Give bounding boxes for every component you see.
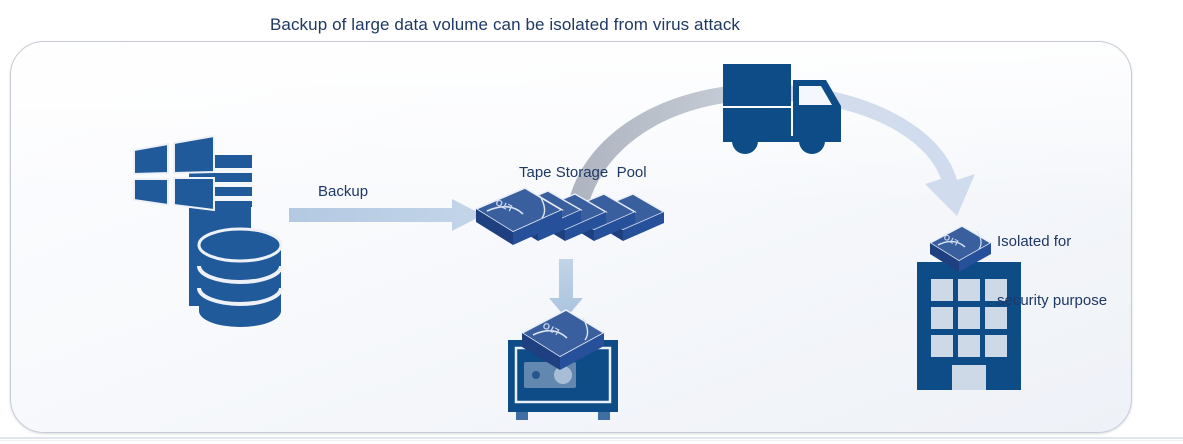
- safe-vault-icon: LTO: [508, 310, 618, 420]
- right-arrow: [289, 199, 483, 231]
- tape-storage-pool-label: Tape Storage Pool: [519, 163, 647, 183]
- isolated-label: Isolated for security purpose: [997, 193, 1107, 349]
- windows-server-database-icon: [134, 136, 281, 327]
- diagram-canvas: Backup of large data volume can be isola…: [0, 0, 1183, 444]
- windows-logo-icon: [134, 136, 214, 210]
- database-cylinder-icon: [199, 229, 281, 327]
- isolated-label-line2: security purpose: [997, 291, 1107, 311]
- lto-tape-cartridge-stack-icon: LTO: [476, 188, 664, 245]
- delivery-truck-icon: [723, 64, 841, 154]
- backup-arrow-label: Backup: [318, 182, 368, 202]
- isolated-label-line1: Isolated for: [997, 232, 1107, 252]
